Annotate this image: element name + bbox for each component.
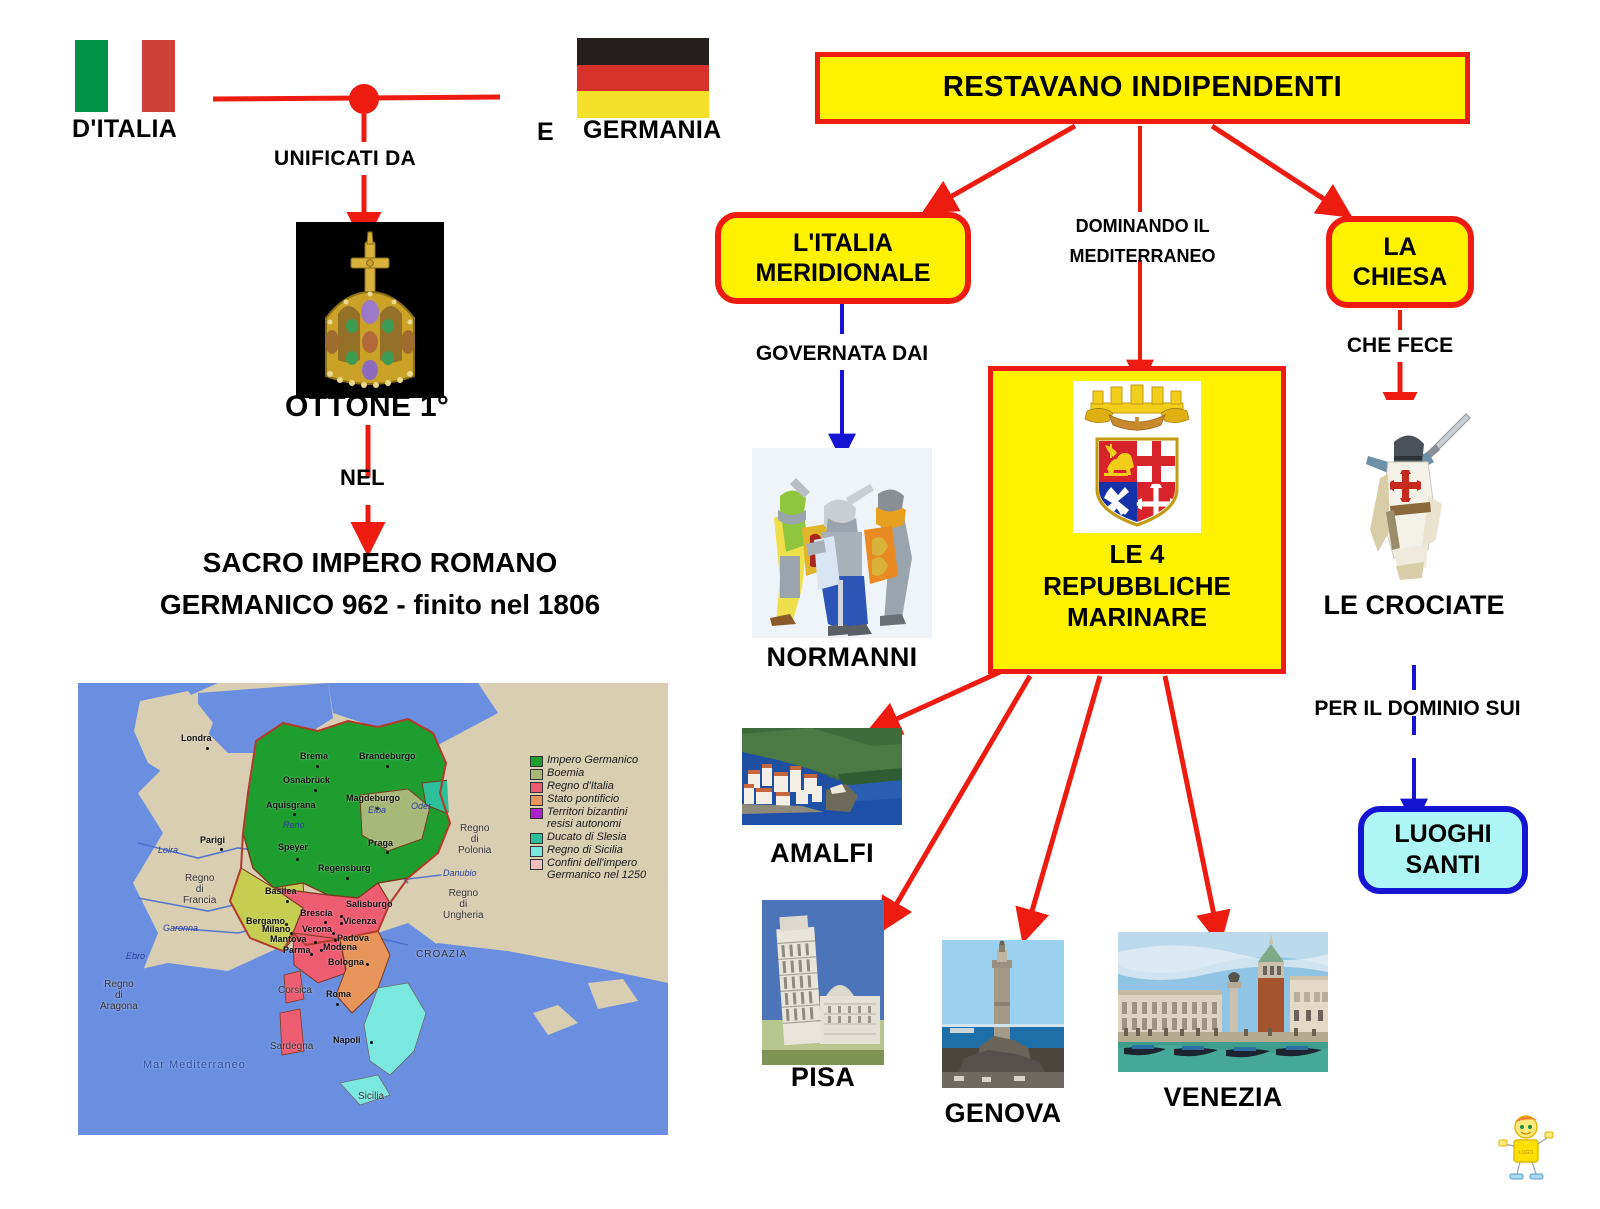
empire-line-2: GERMANICO 962 - finito nel xyxy=(160,589,530,620)
flag-germany xyxy=(577,38,709,118)
normanni-caption: NORMANNI xyxy=(742,642,942,673)
map-city-label: Napoli xyxy=(333,1035,361,1045)
map-city-label: Magdeburgo xyxy=(346,793,400,803)
amalfi-caption: AMALFI xyxy=(742,838,902,869)
flag-germany-caption: GERMANIA xyxy=(583,116,722,145)
legend-label: Ducato di Slesia xyxy=(547,832,627,844)
venezia-caption: VENEZIA xyxy=(1118,1082,1328,1113)
la-chiesa-line-1: LA xyxy=(1383,232,1416,263)
legend-swatch xyxy=(530,859,543,870)
repubbliche-marinare-box[interactable]: LE 4 REPUBBLICHE MARINARE xyxy=(988,366,1286,674)
map-region-label: CROAZIA xyxy=(416,949,467,960)
map-city-label: Verona xyxy=(302,924,332,934)
historical-map: Londra Brema Brandeburgo Osnabrück Magde… xyxy=(78,683,668,1135)
map-city-label: Brandeburgo xyxy=(359,751,416,761)
legend-row: Regno di Sicilia xyxy=(530,845,646,857)
map-city-label: Roma xyxy=(326,989,351,999)
holy-roman-empire-text: SACRO IMPERO ROMANO GERMANICO 962 - fini… xyxy=(120,542,640,626)
legend-swatch xyxy=(530,782,543,793)
dominando-line-1: DOMINANDO IL xyxy=(1076,216,1210,236)
genova-caption: GENOVA xyxy=(930,1098,1076,1129)
map-city-label: Vicenza xyxy=(343,916,376,926)
map-city-label: Bologna xyxy=(328,957,364,967)
marina-militare-crest xyxy=(1073,381,1201,533)
map-river-label: Loira xyxy=(158,845,178,855)
map-river-label: Ebro xyxy=(126,951,145,961)
map-city-label: Brema xyxy=(300,751,328,761)
legend-label: Regno di Sicilia xyxy=(547,845,623,857)
legend-swatch xyxy=(530,833,543,844)
nel-label: NEL xyxy=(340,465,385,491)
governata-line-1: GOVERNATA xyxy=(756,342,886,365)
venezia-image xyxy=(1118,932,1328,1072)
luoghi-santi-box[interactable]: LUOGHI SANTI xyxy=(1358,806,1528,894)
map-city-label: Londra xyxy=(181,733,212,743)
restavano-indipendenti-box[interactable]: RESTAVANO INDIPENDENTI xyxy=(815,52,1470,124)
empire-line-3: 1806 xyxy=(538,589,600,620)
map-region-label: Sicilia xyxy=(358,1091,384,1102)
map-region-label: RegnodiAragona xyxy=(100,979,138,1012)
genova-image xyxy=(942,940,1064,1088)
empire-line-1: SACRO IMPERO ROMANO xyxy=(203,547,558,578)
la-chiesa-line-2: CHIESA xyxy=(1353,262,1447,293)
map-river-label: Oder xyxy=(411,801,431,811)
crociate-line-1: LE xyxy=(1323,590,1358,620)
map-river-label: Garonna xyxy=(163,923,198,933)
map-region-label: RegnodiPolonia xyxy=(458,823,491,856)
luoghi-santi-line-2: SANTI xyxy=(1406,850,1481,881)
marinare-line-2: REPUBBLICHE xyxy=(1043,571,1231,603)
map-region-label: Corsica xyxy=(278,985,312,996)
normanni-image xyxy=(752,448,932,638)
legend-swatch xyxy=(530,808,543,819)
map-city-label: Parma xyxy=(283,945,311,955)
map-city-label: Modena xyxy=(323,942,357,952)
legend-row: Regno d'Italia xyxy=(530,781,646,793)
legend-row: Confini dell'impero Germanico nel 1250 xyxy=(530,858,646,882)
map-region-label: RegnodiFrancia xyxy=(183,873,216,906)
legend-label: Stato pontificio xyxy=(547,794,619,806)
legend-swatch xyxy=(530,846,543,857)
map-river-label: Reno xyxy=(283,820,305,830)
per-il-dominio-label: PER IL DOMINIO SUI xyxy=(1300,692,1535,726)
italia-meridionale-line-2: MERIDIONALE xyxy=(756,258,931,289)
luoghi-santi-line-1: LUOGHI xyxy=(1394,819,1491,850)
svg-text:LOGO: LOGO xyxy=(1519,1150,1534,1156)
map-city-label: Aquisgrana xyxy=(266,800,316,810)
legend-row: Stato pontificio xyxy=(530,794,646,806)
legend-label: Confini dell'impero Germanico nel 1250 xyxy=(547,858,646,882)
map-city-label: Brescia xyxy=(300,908,333,918)
map-city-label: Regensburg xyxy=(318,863,371,873)
per-il-line-1: PER IL xyxy=(1314,697,1381,720)
amalfi-image xyxy=(742,728,902,825)
dominando-mediterraneo-label: DOMINANDO IL MEDITERRANEO xyxy=(1035,212,1250,271)
dominando-line-2: MEDITERRANEO xyxy=(1069,246,1215,266)
imperial-crown-image xyxy=(296,222,444,398)
marinare-line-3: MARINARE xyxy=(1067,602,1207,634)
legend-swatch xyxy=(530,795,543,806)
pisa-caption: PISA xyxy=(762,1062,884,1093)
pisa-image xyxy=(762,900,884,1065)
crociate-image xyxy=(1350,400,1480,585)
conjunction-label: E xyxy=(537,118,554,147)
restavano-indipendenti-label: RESTAVANO INDIPENDENTI xyxy=(943,70,1342,105)
legend-swatch xyxy=(530,769,543,780)
map-city-label: Speyer xyxy=(278,842,308,852)
legend-row: Boemia xyxy=(530,768,646,780)
legend-row: Territori bizantini resisi autonomi xyxy=(530,807,646,831)
legend-swatch xyxy=(530,756,543,767)
legend-label: Territori bizantini resisi autonomi xyxy=(547,807,627,831)
legend-label: Boemia xyxy=(547,768,584,780)
per-il-line-2: DOMINIO SUI xyxy=(1388,697,1521,720)
map-legend: Impero Germanico Boemia Regno d'Italia S… xyxy=(530,755,646,883)
legend-row: Impero Germanico xyxy=(530,755,646,767)
mascot-logo: LOGO xyxy=(1495,1110,1557,1186)
map-river-label: Danubio xyxy=(443,868,477,878)
map-city-label: Osnabrück xyxy=(283,775,330,785)
map-sea-label: Mar Mediterraneo xyxy=(143,1059,246,1071)
map-city-label: Parigi xyxy=(200,835,225,845)
la-chiesa-box[interactable]: LA CHIESA xyxy=(1326,216,1474,308)
legend-label: Impero Germanico xyxy=(547,755,638,767)
map-region-label: RegnodiUngheria xyxy=(443,888,484,921)
map-city-label: Praga xyxy=(368,838,393,848)
legend-row: Ducato di Slesia xyxy=(530,832,646,844)
italia-meridionale-box[interactable]: L'ITALIA MERIDIONALE xyxy=(715,212,971,304)
flag-italy xyxy=(75,40,175,112)
governata-dai-label: GOVERNATA DAI xyxy=(742,338,942,371)
che-fece-label: CHE FECE xyxy=(1340,330,1460,362)
flag-italy-caption: D'ITALIA xyxy=(72,115,177,144)
map-region-label: Sardegna xyxy=(270,1041,313,1052)
italia-meridionale-line-1: L'ITALIA xyxy=(793,228,893,259)
ottone-caption: OTTONE 1° xyxy=(285,390,449,424)
marinare-line-1: LE 4 xyxy=(1110,539,1165,571)
governata-line-2: DAI xyxy=(892,342,928,365)
map-river-label: Elba xyxy=(368,805,386,815)
fece-label: FECE xyxy=(1397,334,1453,357)
map-city-label: Mantova xyxy=(270,934,307,944)
crociate-caption: LE CROCIATE xyxy=(1318,586,1510,625)
unificati-da-label: UNIFICATI DA xyxy=(274,147,416,171)
map-city-label: Milano xyxy=(262,924,291,934)
che-label: CHE xyxy=(1347,334,1391,357)
crociate-line-2: CROCIATE xyxy=(1366,590,1505,620)
map-city-label: Basilea xyxy=(265,886,297,896)
map-city-label: Salisburgo xyxy=(346,899,393,909)
legend-label: Regno d'Italia xyxy=(547,781,614,793)
